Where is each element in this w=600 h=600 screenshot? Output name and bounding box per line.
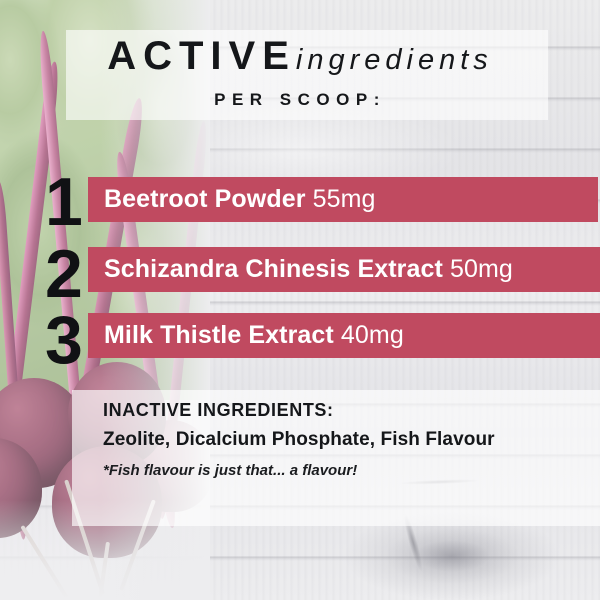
active-ingredient-list: 1 Beetroot Powder 55mg 2 Schizandra Chin… [0,0,600,600]
inactive-title: INACTIVE INGREDIENTS: [103,400,573,421]
ingredient-label: Milk Thistle Extract 40mg [104,313,404,358]
ingredient-name: Beetroot Powder [104,185,306,213]
infographic-canvas: ACTIVEingredients PER SCOOP: 1 Beetroot … [0,0,600,600]
ingredient-rank: 3 [45,306,81,374]
ingredient-rank: 1 [45,168,81,236]
ingredient-dose: 55mg [313,185,376,213]
ingredient-rank: 2 [45,240,81,308]
ingredient-label: Schizandra Chinesis Extract 50mg [104,247,513,292]
ingredient-name: Milk Thistle Extract [104,321,334,349]
ingredient-dose: 40mg [341,321,404,349]
ingredient-dose: 50mg [450,255,513,283]
ingredient-name: Schizandra Chinesis Extract [104,255,443,283]
inactive-ingredients-block: INACTIVE INGREDIENTS: Zeolite, Dicalcium… [103,400,573,479]
inactive-list: Zeolite, Dicalcium Phosphate, Fish Flavo… [103,429,573,451]
inactive-footnote: *Fish flavour is just that... a flavour! [103,462,573,479]
ingredient-label: Beetroot Powder 55mg [104,177,376,222]
